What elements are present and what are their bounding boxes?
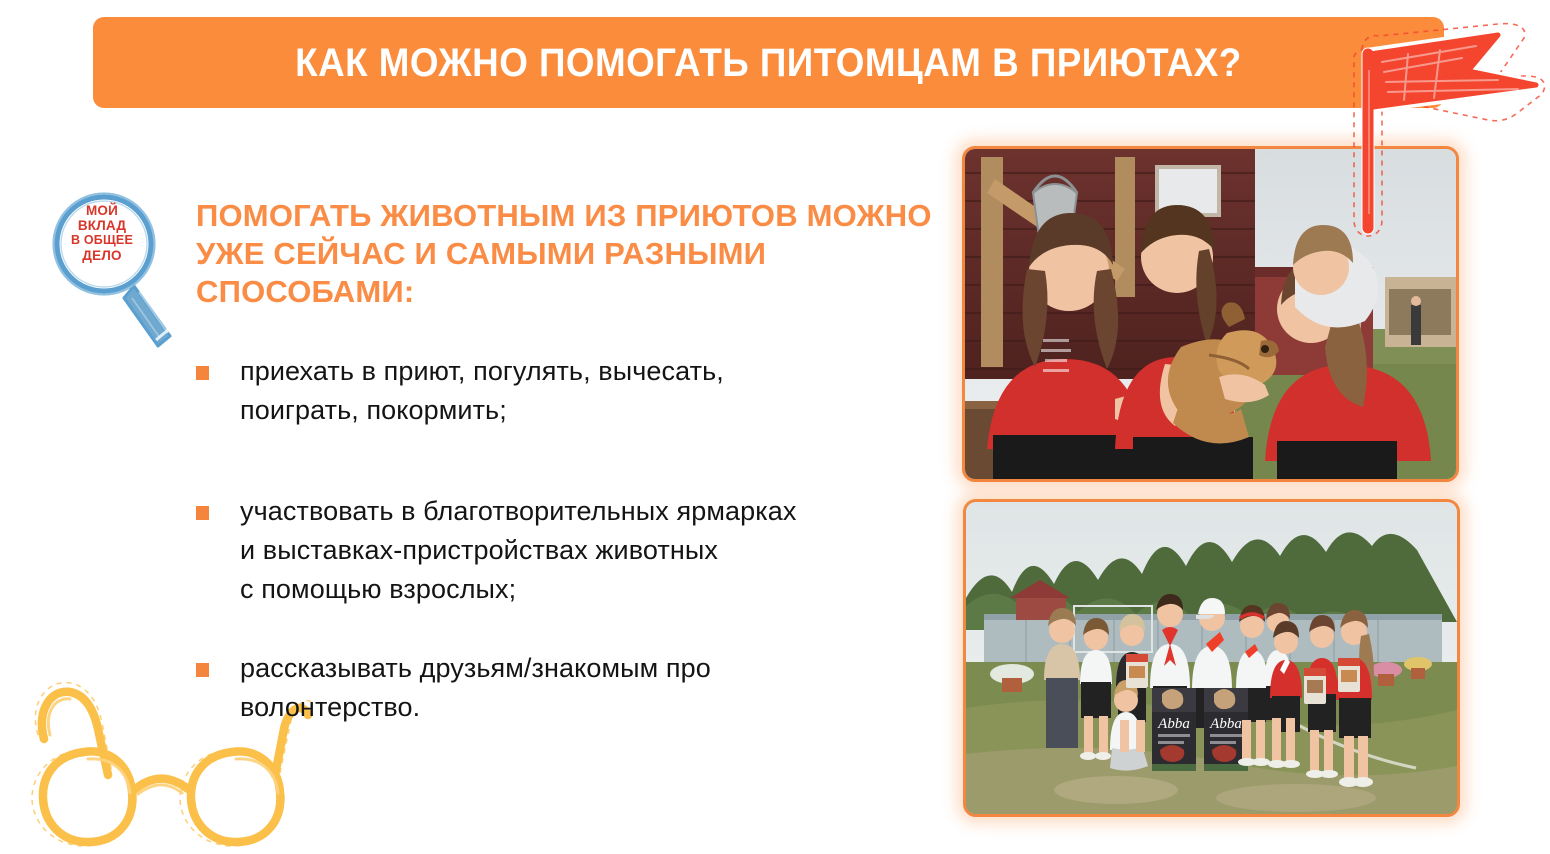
list-item-line: участвовать в благотворительных ярмарках xyxy=(240,492,796,531)
list-item-text: участвовать в благотворительных ярмарках… xyxy=(240,492,796,609)
list-item-text: приехать в приют, погулять, вычесать, по… xyxy=(240,352,724,430)
subtitle-line-1: ПОМОГАТЬ ЖИВОТНЫМ ИЗ ПРИЮТОВ МОЖНО xyxy=(196,197,956,235)
list-item-line: с помощью взрослых; xyxy=(240,570,796,609)
list-item-line: поиграть, покормить; xyxy=(240,391,724,430)
list-gap xyxy=(196,609,966,649)
magnifier-badge xyxy=(46,188,186,353)
list-item-line: приехать в приют, погулять, вычесать, xyxy=(240,352,724,391)
bullet-square-icon xyxy=(196,366,209,380)
list-item: приехать в приют, погулять, вычесать, по… xyxy=(196,352,966,430)
list-gap xyxy=(196,430,966,492)
subtitle: ПОМОГАТЬ ЖИВОТНЫМ ИЗ ПРИЮТОВ МОЖНО УЖЕ С… xyxy=(196,197,956,311)
header-bar: КАК МОЖНО ПОМОГАТЬ ПИТОМЦАМ В ПРИЮТАХ? xyxy=(93,17,1444,108)
bullet-square-icon xyxy=(196,663,209,677)
list-item: рассказывать друзьям/знакомым про волонт… xyxy=(196,649,966,727)
list-item-text: рассказывать друзьям/знакомым про волонт… xyxy=(240,649,711,727)
list-item-line: рассказывать друзьям/знакомым про xyxy=(240,649,711,688)
bullet-square-icon xyxy=(196,506,209,520)
list-item: участвовать в благотворительных ярмарках… xyxy=(196,492,966,609)
photo-volunteers-group-with-pet-food: Abba Abba xyxy=(963,499,1460,817)
svg-text:Abba: Abba xyxy=(1209,716,1242,732)
page-title: КАК МОЖНО ПОМОГАТЬ ПИТОМЦАМ В ПРИЮТАХ? xyxy=(295,43,1242,83)
flag-icon xyxy=(1348,14,1548,244)
subtitle-line-3: СПОСОБАМИ: xyxy=(196,273,956,311)
subtitle-line-2: УЖЕ СЕЙЧАС И САМЫМИ РАЗНЫМИ xyxy=(196,235,956,273)
svg-text:Abba: Abba xyxy=(1157,716,1190,732)
list-item-line: волонтерство. xyxy=(240,688,711,727)
bullet-list: приехать в приют, погулять, вычесать, по… xyxy=(196,352,966,727)
list-item-line: и выставках-пристройствах животных xyxy=(240,531,796,570)
slide: КАК МОЖНО ПОМОГАТЬ ПИТОМЦАМ В ПРИЮТАХ? xyxy=(0,0,1550,849)
